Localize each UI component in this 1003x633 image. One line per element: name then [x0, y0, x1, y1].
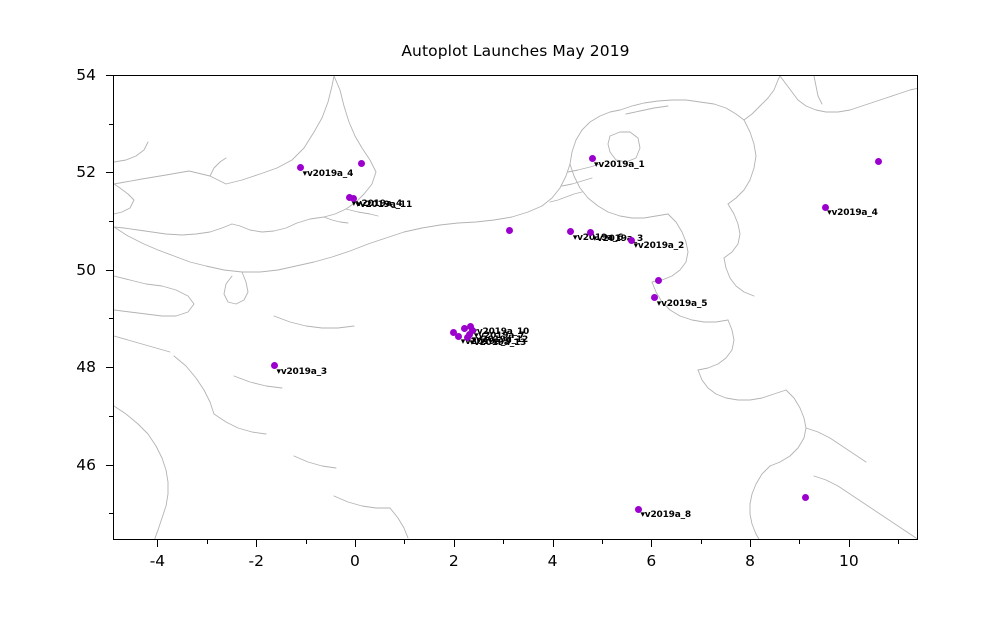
y-axis-tick-label: 54: [36, 66, 96, 84]
x-axis-tick-label: 2: [424, 552, 484, 570]
data-point-label: ▾v2019a_2: [634, 241, 684, 251]
x-axis-tick: [750, 540, 751, 547]
x-axis-tick-label: -2: [226, 552, 286, 570]
x-axis-tick: [849, 540, 850, 547]
x-axis-minor-tick: [306, 540, 307, 544]
y-axis-tick: [106, 270, 113, 271]
coastline-map: [114, 76, 918, 540]
y-axis-tick-label: 48: [36, 358, 96, 376]
x-axis-minor-tick: [207, 540, 208, 544]
x-axis-tick: [651, 540, 652, 547]
plot-area[interactable]: ▾v2019a_4▾v2019a_4▾v2019a_11▾v2019a_1▾v2…: [113, 75, 918, 540]
data-point-label: ▾v2019a_3: [277, 367, 327, 377]
y-axis-minor-tick: [109, 318, 113, 319]
x-axis-minor-tick: [503, 540, 504, 544]
data-point-marker[interactable]: [506, 227, 513, 234]
x-axis-minor-tick: [898, 540, 899, 544]
data-point-marker[interactable]: [875, 158, 882, 165]
data-point-label: ▾v2019a_4: [303, 169, 353, 179]
x-axis-minor-tick: [404, 540, 405, 544]
y-axis-tick-label: 46: [36, 456, 96, 474]
data-point-label: ▾v2019a_11: [356, 200, 413, 210]
x-axis-minor-tick: [602, 540, 603, 544]
y-axis-tick: [106, 75, 113, 76]
data-point-label: ▾v2019a_4: [827, 208, 877, 218]
data-point-label: ▾v2019a_1: [594, 160, 644, 170]
x-axis-tick: [454, 540, 455, 547]
x-axis-tick-label: 8: [720, 552, 780, 570]
page-title: Autoplot Launches May 2019: [113, 42, 918, 60]
data-point-label: ▾v2019a_13: [470, 338, 527, 348]
x-axis-minor-tick: [701, 540, 702, 544]
x-axis-tick: [256, 540, 257, 547]
y-axis-tick: [106, 465, 113, 466]
x-axis-tick-label: -4: [127, 552, 187, 570]
y-axis-tick-label: 52: [36, 163, 96, 181]
x-axis-tick: [355, 540, 356, 547]
data-point-marker[interactable]: [655, 277, 662, 284]
y-axis-minor-tick: [109, 416, 113, 417]
y-axis-minor-tick: [109, 513, 113, 514]
x-axis-tick-label: 0: [325, 552, 385, 570]
x-axis-tick: [553, 540, 554, 547]
matplotlib-figure: Autoplot Launches May 2019: [0, 0, 1003, 633]
x-axis-minor-tick: [799, 540, 800, 544]
y-axis-tick: [106, 367, 113, 368]
x-axis-tick-label: 6: [621, 552, 681, 570]
x-axis-tick: [157, 540, 158, 547]
data-point-label: ▾v2019a_8: [640, 510, 690, 520]
x-axis-tick-label: 10: [819, 552, 879, 570]
y-axis-minor-tick: [109, 221, 113, 222]
y-axis-tick: [106, 172, 113, 173]
data-point-label: ▾v2019a_5: [657, 299, 707, 309]
y-axis-minor-tick: [109, 124, 113, 125]
data-point-marker[interactable]: [802, 494, 809, 501]
x-axis-tick-label: 4: [523, 552, 583, 570]
y-axis-tick-label: 50: [36, 261, 96, 279]
